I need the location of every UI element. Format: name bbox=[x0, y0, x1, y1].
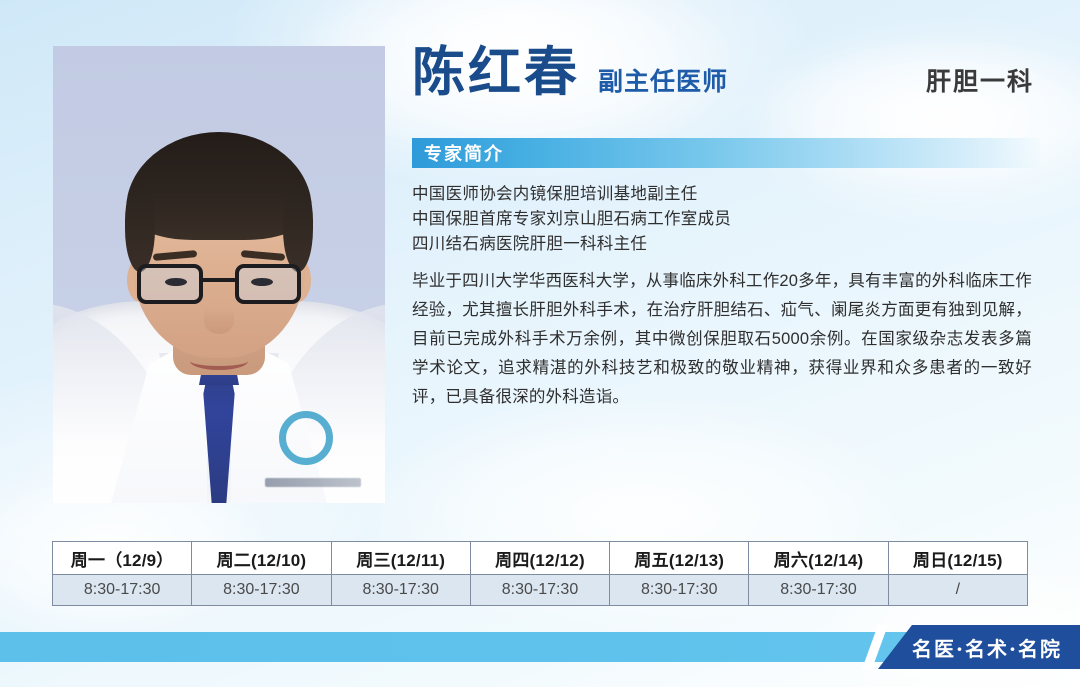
doctor-profile-card: 陈红春 副主任医师 肝胆一科 专家简介 中国医师协会内镜保胆培训基地副主任 中国… bbox=[0, 0, 1080, 687]
schedule-day-header: 周二(12/10) bbox=[192, 542, 331, 575]
schedule-hours-cell: 8:30-17:30 bbox=[331, 575, 470, 606]
name-row: 陈红春 副主任医师 肝胆一科 bbox=[412, 46, 1040, 124]
credential-item: 中国医师协会内镜保胆培训基地副主任 bbox=[412, 182, 1040, 207]
mouth bbox=[190, 352, 248, 370]
schedule-hours-cell: 8:30-17:30 bbox=[749, 575, 888, 606]
schedule-hours-cell: 8:30-17:30 bbox=[192, 575, 331, 606]
schedule-day-header: 周五(12/13) bbox=[610, 542, 749, 575]
section-header-label: 专家简介 bbox=[412, 140, 504, 166]
department-name: 肝胆一科 bbox=[926, 62, 1040, 98]
biography-text: 毕业于四川大学华西医科大学，从事临床外科工作20多年，具有丰富的外科临床工作经验… bbox=[412, 267, 1032, 412]
weekly-schedule-table: 周一（12/9） 周二(12/10) 周三(12/11) 周四(12/12) 周… bbox=[52, 541, 1028, 606]
schedule-hours-cell: 8:30-17:30 bbox=[610, 575, 749, 606]
hair-side-left bbox=[125, 186, 155, 272]
schedule-day-header: 周一（12/9） bbox=[53, 542, 192, 575]
schedule-hours-cell: 8:30-17:30 bbox=[53, 575, 192, 606]
footer-slogan-tag: 名医·名术·名院 bbox=[878, 625, 1080, 669]
glasses-bridge bbox=[203, 278, 235, 282]
schedule-day-header: 周四(12/12) bbox=[470, 542, 609, 575]
eyeglasses bbox=[137, 264, 301, 306]
schedule-hours-cell: / bbox=[888, 575, 1027, 606]
nose bbox=[204, 308, 234, 334]
profile-content: 陈红春 副主任医师 肝胆一科 专家简介 中国医师协会内镜保胆培训基地副主任 中国… bbox=[412, 46, 1040, 412]
eye-left bbox=[165, 278, 187, 286]
schedule-hours-cell: 8:30-17:30 bbox=[470, 575, 609, 606]
hospital-logo-text bbox=[265, 478, 361, 487]
hair-side-right bbox=[283, 186, 313, 272]
schedule-day-header: 周日(12/15) bbox=[888, 542, 1027, 575]
schedule-hours-row: 8:30-17:30 8:30-17:30 8:30-17:30 8:30-17… bbox=[53, 575, 1028, 606]
doctor-name: 陈红春 bbox=[412, 46, 580, 99]
schedule-day-header: 周六(12/14) bbox=[749, 542, 888, 575]
section-header-bar: 专家简介 bbox=[412, 138, 1040, 168]
hospital-logo-icon bbox=[279, 411, 333, 465]
credential-item: 中国保胆首席专家刘京山胆石病工作室成员 bbox=[412, 207, 1040, 232]
footer-slogan-text: 名医·名术·名院 bbox=[896, 633, 1062, 662]
doctor-portrait bbox=[53, 46, 385, 503]
credential-item: 四川结石病医院肝胆一科科主任 bbox=[412, 232, 1040, 257]
eye-right bbox=[251, 278, 273, 286]
credentials-list: 中国医师协会内镜保胆培训基地副主任 中国保胆首席专家刘京山胆石病工作室成员 四川… bbox=[412, 182, 1040, 257]
schedule-header-row: 周一（12/9） 周二(12/10) 周三(12/11) 周四(12/12) 周… bbox=[53, 542, 1028, 575]
schedule-day-header: 周三(12/11) bbox=[331, 542, 470, 575]
doctor-title: 副主任医师 bbox=[598, 62, 728, 98]
